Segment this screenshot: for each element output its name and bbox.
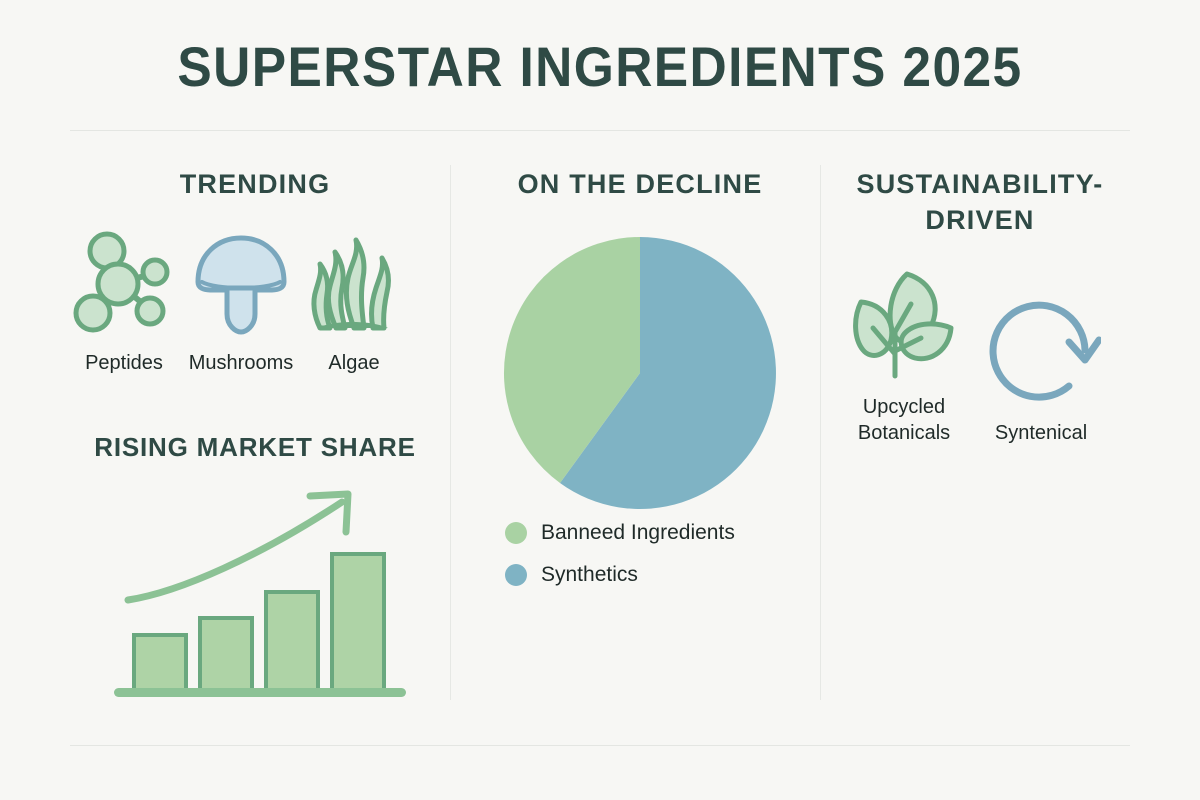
leaf-sprig-icon — [845, 262, 963, 382]
divider-vertical-left — [450, 165, 451, 700]
column-heading-trending: TRENDING — [75, 166, 435, 202]
pie-chart — [500, 233, 780, 518]
legend-item-banneed-ingredients[interactable]: Banneed Ingredients — [505, 520, 735, 546]
infographic-canvas: SUPERSTAR INGREDIENTS 2025 TRENDING — [0, 0, 1200, 800]
divider-bottom — [70, 745, 1130, 746]
molecule-icon — [70, 228, 178, 338]
column-heading-on-the-decline: ON THE DECLINE — [465, 166, 815, 202]
trending-item-peptides[interactable]: Peptides — [70, 228, 178, 376]
sustainability-item-label: Syntenical — [995, 420, 1087, 446]
recycle-arrow-icon — [981, 288, 1101, 408]
algae-icon — [304, 228, 404, 338]
bar-chart — [110, 480, 410, 710]
legend-swatch-green — [505, 522, 527, 544]
trending-item-label: Peptides — [85, 350, 163, 376]
page-title: SUPERSTAR INGREDIENTS 2025 — [48, 36, 1152, 98]
trending-item-mushrooms[interactable]: Mushrooms — [186, 228, 296, 376]
mushroom-icon — [186, 228, 296, 338]
divider-vertical-right — [820, 165, 821, 700]
divider-top — [70, 130, 1130, 131]
trending-item-algae[interactable]: Algae — [304, 228, 404, 376]
pie-legend: Banneed Ingredients Synthetics — [505, 520, 735, 604]
trending-item-label: Algae — [328, 350, 379, 376]
legend-label: Banneed Ingredients — [541, 520, 735, 546]
legend-item-synthetics[interactable]: Synthetics — [505, 562, 735, 588]
trending-icon-row: Peptides Mushrooms — [70, 228, 440, 376]
legend-label: Synthetics — [541, 562, 638, 588]
sustainability-item-label: Upcycled Botanicals — [858, 394, 950, 446]
legend-swatch-blue — [505, 564, 527, 586]
trending-item-label: Mushrooms — [189, 350, 293, 376]
sustainability-icon-row: Upcycled Botanicals Syntenical — [845, 262, 1135, 446]
section-heading-rising-market-share: RISING MARKET SHARE — [75, 430, 435, 464]
sustainability-item-syntenical[interactable]: Syntenical — [981, 288, 1101, 446]
column-heading-sustainability-driven: SUSTAINABILITY-DRIVEN — [830, 166, 1130, 238]
sustainability-item-upcycled-botanicals[interactable]: Upcycled Botanicals — [845, 262, 963, 446]
